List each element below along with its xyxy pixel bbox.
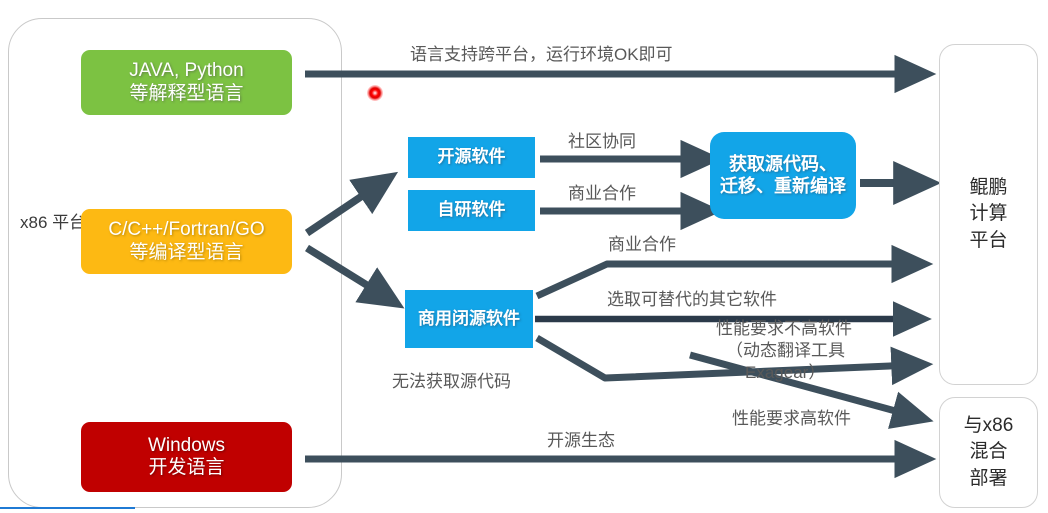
edge-label-open-ecosystem: 开源生态 xyxy=(547,430,615,452)
edge-label-pick-alternative: 选取可替代的其它软件 xyxy=(607,289,777,311)
node-self-developed-label: 自研软件 xyxy=(438,200,506,220)
node-compiled-languages[interactable]: C/C++/Fortran/GO 等编译型语言 xyxy=(81,209,292,274)
node-commercial-closed-label: 商用闭源软件 xyxy=(418,309,520,329)
node-windows-line2: 开发语言 xyxy=(148,457,224,479)
platform-caption: x86 平台 xyxy=(20,212,82,234)
node-port-line1: 获取源代码、 xyxy=(729,154,837,175)
edge-label-cross-platform: 语言支持跨平台，运行环境OK即可 xyxy=(410,44,673,66)
node-open-source-label: 开源软件 xyxy=(438,147,506,167)
node-open-source-software[interactable]: 开源软件 xyxy=(408,137,535,178)
node-interpreted-line2: 等解释型语言 xyxy=(129,83,243,105)
edge-label-business-coop-1: 商业合作 xyxy=(568,183,636,205)
edge-label-community-coop: 社区协同 xyxy=(568,131,636,153)
target-hybrid-line2: 混合 xyxy=(969,439,1007,465)
diagram-canvas: x86 平台 JAVA, Python 等解释型语言 C/C++/Fortran… xyxy=(0,0,1048,513)
target-hybrid-line1: 与x86 xyxy=(964,413,1014,439)
node-compiled-line2: 等编译型语言 xyxy=(129,242,243,264)
node-windows-line1: Windows xyxy=(148,435,225,457)
node-commercial-closed-software[interactable]: 商用闭源软件 xyxy=(405,290,533,348)
edge-label-high-perf: 性能要求高软件 xyxy=(732,408,851,430)
node-port-line2: 迁移、重新编译 xyxy=(720,176,846,197)
target-kunpeng-line1: 鲲鹏 xyxy=(969,175,1007,201)
node-windows-languages[interactable]: Windows 开发语言 xyxy=(81,422,292,492)
node-interpreted-line1: JAVA, Python xyxy=(129,60,243,82)
bottom-accent-rule xyxy=(0,507,135,509)
target-x86-hybrid-deploy[interactable]: 与x86 混合 部署 xyxy=(939,397,1038,508)
target-kunpeng-line2: 计算 xyxy=(969,201,1007,227)
cursor-pointer-dot xyxy=(367,85,383,101)
edge-label-no-source-code: 无法获取源代码 xyxy=(392,371,511,393)
target-kunpeng-platform[interactable]: 鲲鹏 计算 平台 xyxy=(939,44,1038,385)
platform-caption-line1: x86 xyxy=(20,213,47,232)
node-port-recompile[interactable]: 获取源代码、 迁移、重新编译 xyxy=(710,132,856,219)
target-hybrid-line3: 部署 xyxy=(969,466,1007,492)
edge-label-low-perf-line2: （动态翻译工具 xyxy=(726,340,845,362)
edge-closed-low-perf xyxy=(537,338,913,378)
target-kunpeng-line3: 平台 xyxy=(969,228,1007,254)
node-interpreted-languages[interactable]: JAVA, Python 等解释型语言 xyxy=(81,50,292,115)
edge-label-business-coop-2: 商业合作 xyxy=(608,234,676,256)
edge-label-low-perf-line1: 性能要求不高软件 xyxy=(716,318,852,340)
node-compiled-line1: C/C++/Fortran/GO xyxy=(108,219,264,241)
edge-label-low-perf-line3: Exagear） xyxy=(745,362,825,384)
node-self-developed-software[interactable]: 自研软件 xyxy=(408,190,535,231)
